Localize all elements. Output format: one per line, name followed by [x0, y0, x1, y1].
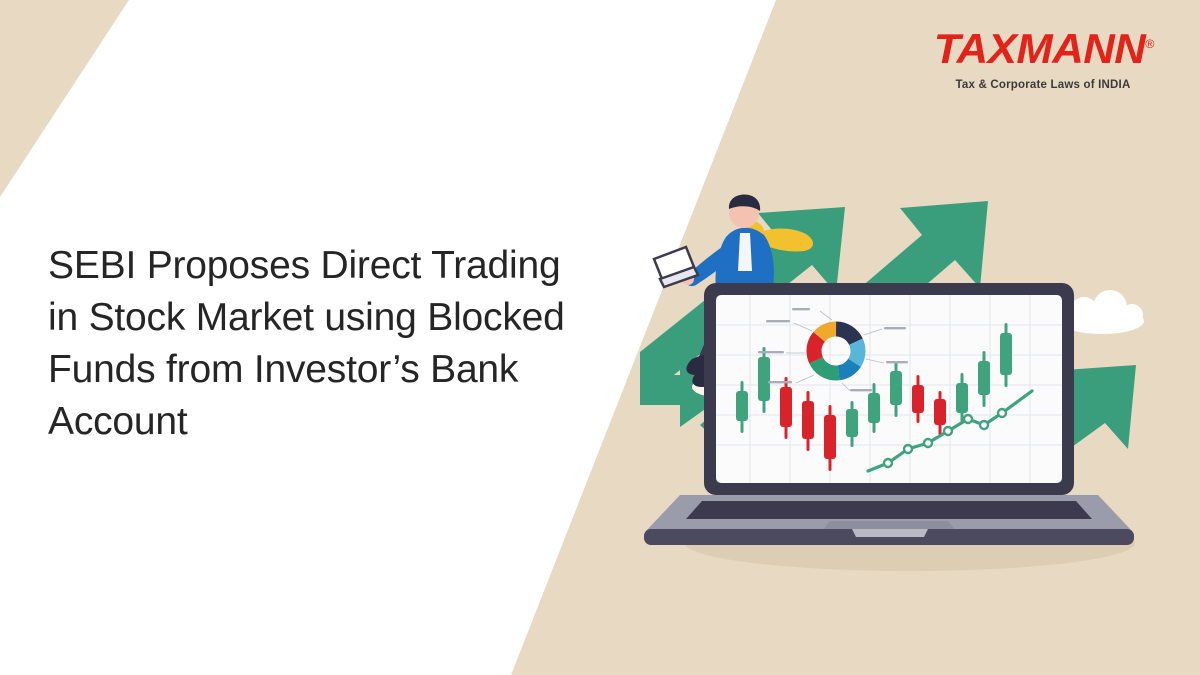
logo-tagline: Tax & Corporate Laws of INDIA — [938, 79, 1148, 91]
page-title: SEBI Proposes Direct Trading in Stock Ma… — [48, 240, 568, 447]
logo-wordmark: TAXMANN® — [934, 28, 1154, 70]
trend-point — [904, 445, 912, 453]
laptop — [644, 283, 1134, 545]
hero-illustration — [640, 175, 1180, 615]
banner-root: TAXMANN® Tax & Corporate Laws of INDIA S… — [0, 0, 1200, 675]
person-shirt — [738, 233, 752, 271]
laptop-keyboard — [686, 501, 1092, 519]
trend-point — [924, 439, 932, 447]
logo-wordmark-text: TAXMANN — [934, 25, 1146, 72]
registered-trademark-icon: ® — [1145, 37, 1154, 51]
laptop-latch — [852, 529, 928, 537]
trend-point — [964, 415, 972, 423]
trend-point — [884, 459, 892, 467]
trend-point — [998, 409, 1006, 417]
trend-point — [944, 427, 952, 435]
taxmann-logo[interactable]: TAXMANN® Tax & Corporate Laws of INDIA — [938, 28, 1148, 91]
trend-point — [980, 421, 988, 429]
